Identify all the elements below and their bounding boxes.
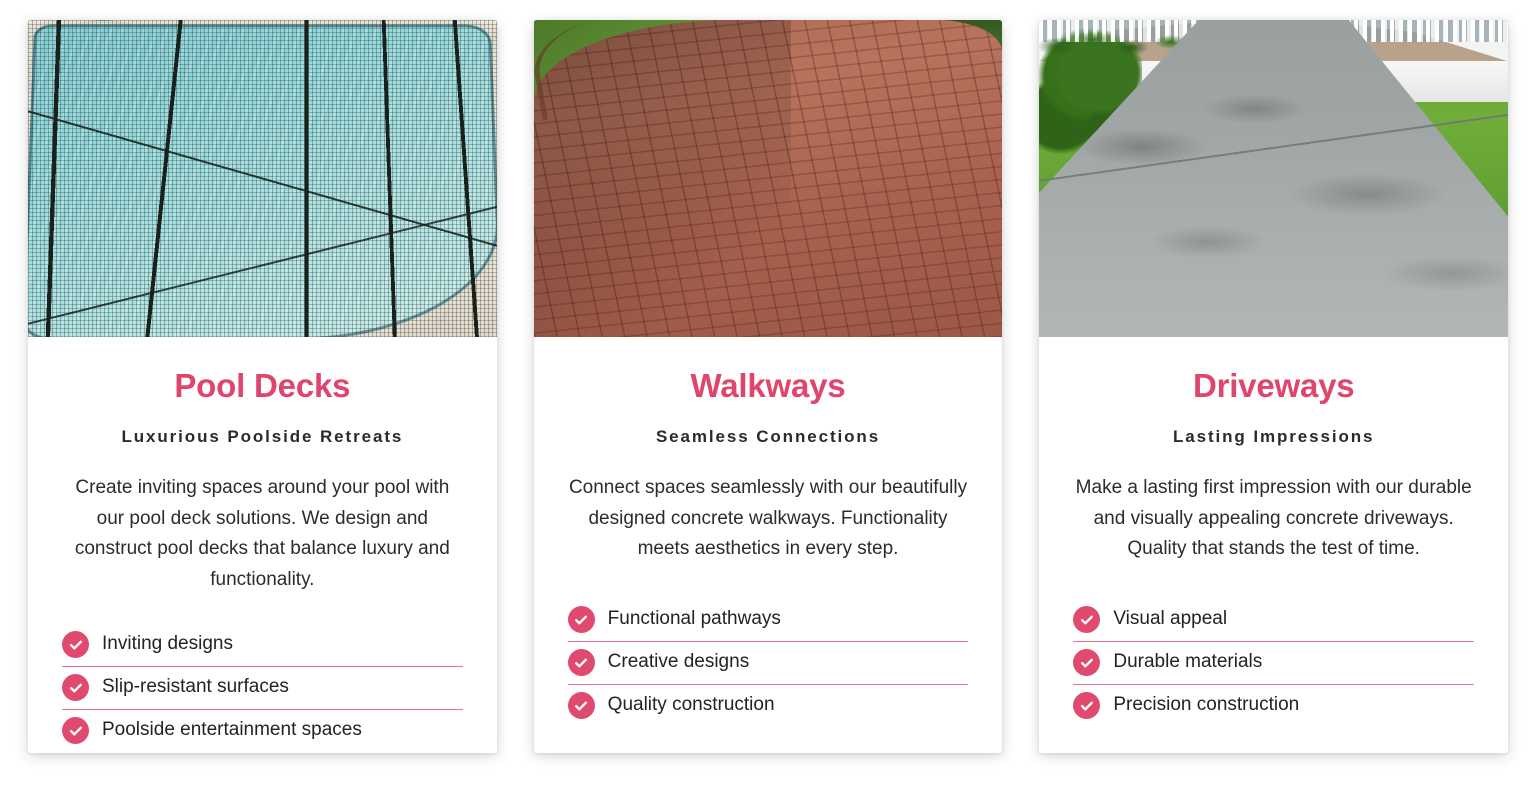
card-description: Create inviting spaces around your pool … xyxy=(62,473,463,596)
feature-list: Visual appeal Durable materials Precisio… xyxy=(1073,599,1474,727)
card-subtitle: Seamless Connections xyxy=(568,427,969,447)
card-body-walkways: Walkways Seamless Connections Connect sp… xyxy=(534,337,1003,753)
card-description: Connect spaces seamlessly with our beaut… xyxy=(568,473,969,565)
card-description: Make a lasting first impression with our… xyxy=(1073,473,1474,565)
service-card-walkways[interactable]: Walkways Seamless Connections Connect sp… xyxy=(534,20,1003,753)
card-body-driveways: Driveways Lasting Impressions Make a las… xyxy=(1039,337,1508,753)
list-item[interactable]: Slip-resistant surfaces xyxy=(62,667,463,710)
services-card-row: Pool Decks Luxurious Poolside Retreats C… xyxy=(0,0,1536,785)
feature-list: Inviting designs Slip-resistant surfaces… xyxy=(62,624,463,752)
list-item[interactable]: Poolside entertainment spaces xyxy=(62,710,463,752)
card-title: Pool Decks xyxy=(62,367,463,405)
service-card-driveways[interactable]: Driveways Lasting Impressions Make a las… xyxy=(1039,20,1508,753)
feature-label: Slip-resistant surfaces xyxy=(102,675,289,700)
check-circle-icon xyxy=(568,692,595,719)
card-subtitle: Luxurious Poolside Retreats xyxy=(62,427,463,447)
feature-label: Durable materials xyxy=(1113,650,1262,675)
feature-list: Functional pathways Creative designs Qua… xyxy=(568,599,969,727)
check-circle-icon xyxy=(62,674,89,701)
check-circle-icon xyxy=(1073,606,1100,633)
check-circle-icon xyxy=(568,649,595,676)
feature-label: Inviting designs xyxy=(102,632,233,657)
feature-label: Poolside entertainment spaces xyxy=(102,718,362,743)
service-card-pool-decks[interactable]: Pool Decks Luxurious Poolside Retreats C… xyxy=(28,20,497,753)
list-item[interactable]: Durable materials xyxy=(1073,642,1474,685)
feature-label: Functional pathways xyxy=(608,607,781,632)
check-circle-icon xyxy=(62,631,89,658)
driveway-control-joint-layer xyxy=(1039,20,1508,337)
card-title: Walkways xyxy=(568,367,969,405)
check-circle-icon xyxy=(1073,692,1100,719)
feature-label: Precision construction xyxy=(1113,693,1299,718)
card-title: Driveways xyxy=(1073,367,1474,405)
card-image-walkways xyxy=(534,20,1003,337)
check-circle-icon xyxy=(62,717,89,744)
feature-label: Visual appeal xyxy=(1113,607,1227,632)
card-subtitle: Lasting Impressions xyxy=(1073,427,1474,447)
list-item[interactable]: Creative designs xyxy=(568,642,969,685)
walkway-shadow-layer xyxy=(534,20,792,337)
feature-label: Creative designs xyxy=(608,650,750,675)
card-image-pool-decks xyxy=(28,20,497,337)
list-item[interactable]: Quality construction xyxy=(568,685,969,727)
card-body-pool-decks: Pool Decks Luxurious Poolside Retreats C… xyxy=(28,337,497,753)
check-circle-icon xyxy=(1073,649,1100,676)
pool-cage-frame-layer xyxy=(28,20,497,337)
list-item[interactable]: Inviting designs xyxy=(62,624,463,667)
card-image-driveways xyxy=(1039,20,1508,337)
list-item[interactable]: Visual appeal xyxy=(1073,599,1474,642)
list-item[interactable]: Precision construction xyxy=(1073,685,1474,727)
feature-label: Quality construction xyxy=(608,693,775,718)
list-item[interactable]: Functional pathways xyxy=(568,599,969,642)
check-circle-icon xyxy=(568,606,595,633)
